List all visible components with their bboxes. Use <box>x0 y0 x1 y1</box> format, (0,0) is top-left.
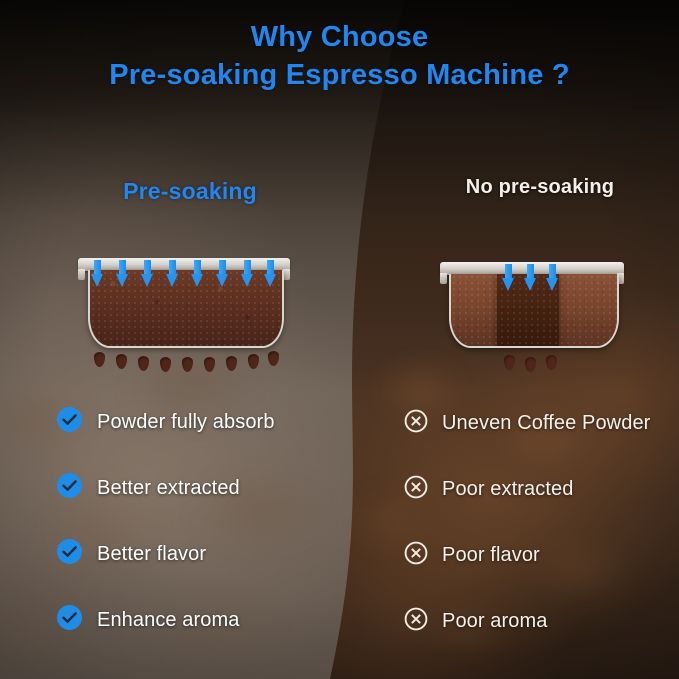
x-circle-icon <box>404 607 428 636</box>
portafilter-rim-tab-left-end <box>283 269 290 280</box>
coffee-drop-icon <box>160 357 171 372</box>
list-item-label: Better extracted <box>97 477 240 500</box>
water-arrow-icon <box>166 260 179 287</box>
water-arrow-icon <box>116 260 129 287</box>
coffee-drop-icon <box>226 356 237 371</box>
list-item-label: Powder fully absorb <box>97 411 275 434</box>
water-arrow-icon <box>191 260 204 287</box>
coffee-drop-icon <box>94 352 105 367</box>
coffee-drop-icon <box>268 351 279 366</box>
x-circle-icon <box>404 475 428 504</box>
check-circle-icon <box>56 604 83 636</box>
column-heading-no-pre-soaking: No pre-soaking <box>400 176 679 199</box>
no-pre-soaking-portafilter-diagram <box>440 262 624 382</box>
coffee-drop-icon <box>248 354 259 369</box>
list-item-label: Enhance aroma <box>97 609 240 632</box>
coffee-drop-icon <box>116 354 127 369</box>
page-title: Why Choose Pre-soaking Espresso Machine … <box>0 18 679 95</box>
list-item[interactable]: Poor flavor <box>404 540 540 570</box>
x-circle-icon <box>404 541 428 570</box>
water-arrow-icon <box>502 264 515 291</box>
list-item-label: Poor aroma <box>442 610 548 633</box>
list-item[interactable]: Poor aroma <box>404 606 548 636</box>
list-item-label: Poor extracted <box>442 478 573 501</box>
list-item[interactable]: Better flavor <box>56 539 206 569</box>
water-arrow-icon <box>141 260 154 287</box>
check-circle-icon <box>56 472 83 504</box>
list-item-label: Uneven Coffee Powder <box>442 412 650 435</box>
water-arrow-icon <box>216 260 229 287</box>
list-item[interactable]: Powder fully absorb <box>56 407 275 437</box>
check-circle-icon <box>56 406 83 438</box>
check-circle-icon <box>56 538 83 570</box>
x-circle-icon <box>404 409 428 438</box>
portafilter-rim-tab-right-start <box>440 273 447 284</box>
list-item[interactable]: Enhance aroma <box>56 605 240 635</box>
list-item[interactable]: Uneven Coffee Powder <box>404 408 650 438</box>
title-line-2: Pre-soaking Espresso Machine ? <box>0 56 679 94</box>
coffee-drop-icon <box>138 356 149 371</box>
list-item[interactable]: Better extracted <box>56 473 240 503</box>
coffee-drop-icon <box>182 357 193 372</box>
coffee-drop-icon <box>525 357 536 372</box>
coffee-drop-icon <box>204 357 215 372</box>
water-arrow-icon <box>524 264 537 291</box>
coffee-drop-icon <box>504 355 515 370</box>
portafilter-rim-tab-left-start <box>78 269 85 280</box>
column-heading-pre-soaking: Pre-soaking <box>40 178 340 205</box>
title-line-1: Why Choose <box>251 21 429 53</box>
water-arrow-icon <box>91 260 104 287</box>
water-arrow-icon <box>264 260 277 287</box>
water-arrow-icon <box>546 264 559 291</box>
water-arrow-icon <box>241 260 254 287</box>
list-item[interactable]: Poor extracted <box>404 474 573 504</box>
list-item-label: Poor flavor <box>442 544 540 567</box>
coffee-drop-icon <box>546 355 557 370</box>
list-item-label: Better flavor <box>97 543 206 566</box>
infographic-canvas: Why Choose Pre-soaking Espresso Machine … <box>0 0 679 679</box>
pre-soaking-portafilter-diagram <box>78 258 290 378</box>
